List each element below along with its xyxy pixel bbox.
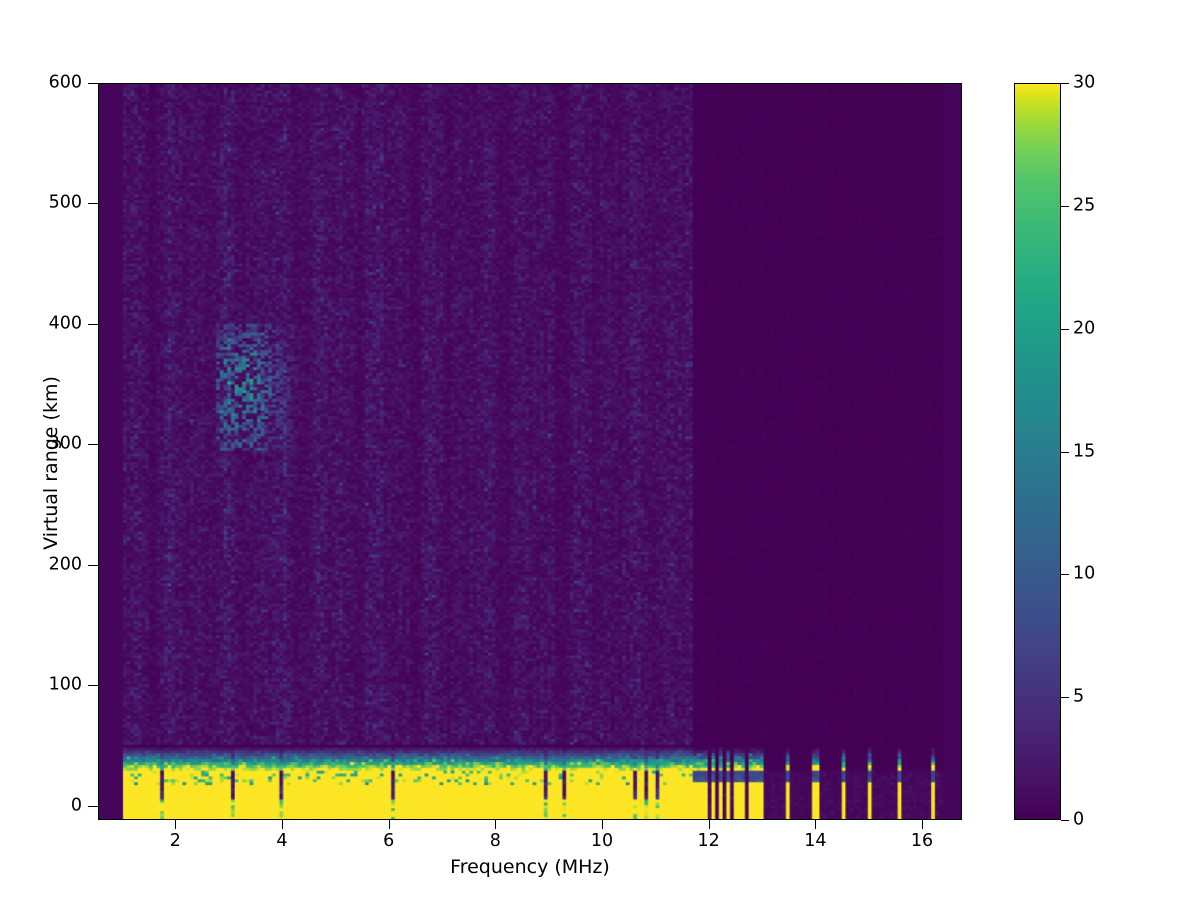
x-tick-label: 4 [276,833,287,851]
y-axis-label: Virtual range (km) [40,313,62,613]
x-tick-label: 12 [698,833,720,851]
x-axis-label: Frequency (MHz) [98,856,962,878]
x-tick [389,820,390,829]
ionogram-plot-area [98,83,962,820]
colorbar-tick-label: 25 [1073,197,1095,215]
y-tick [88,444,98,445]
x-tick [282,820,283,829]
colorbar-tick-label: 5 [1073,688,1084,706]
x-tick [815,820,816,829]
colorbar-tick [1061,452,1069,453]
colorbar: 051015202530 [1014,83,1061,820]
colorbar-tick [1061,574,1069,575]
colorbar-tick [1061,329,1069,330]
x-tick [495,820,496,829]
x-tick-label: 2 [170,833,181,851]
y-tick-label: 0 [71,797,82,815]
x-tick-label: 10 [591,833,613,851]
heatmap-canvas [99,84,961,819]
x-tick-label: 8 [490,833,501,851]
y-tick-label: 600 [49,74,82,92]
colorbar-gradient [1014,83,1061,820]
x-tick [602,820,603,829]
y-tick [88,83,98,84]
x-tick [922,820,923,829]
colorbar-tick-label: 30 [1073,74,1095,92]
y-tick [88,203,98,204]
colorbar-tick [1061,206,1069,207]
x-tick-label: 6 [383,833,394,851]
colorbar-tick-label: 15 [1073,443,1095,461]
colorbar-tick-label: 10 [1073,566,1095,584]
colorbar-tick-label: 0 [1073,811,1084,829]
x-tick-label: 16 [911,833,933,851]
y-tick [88,324,98,325]
y-tick [88,565,98,566]
colorbar-tick [1061,697,1069,698]
y-tick-label: 100 [49,676,82,694]
colorbar-tick [1061,83,1069,84]
colorbar-tick-label: 20 [1073,320,1095,338]
colorbar-tick [1061,820,1069,821]
x-tick-label: 14 [804,833,826,851]
y-tick-label: 500 [49,195,82,213]
x-tick [175,820,176,829]
y-tick [88,685,98,686]
y-tick [88,806,98,807]
ionogram-figure: IRF Kiruna Ionosonde KI167 2025-10-16 03… [0,0,1200,900]
x-tick [709,820,710,829]
